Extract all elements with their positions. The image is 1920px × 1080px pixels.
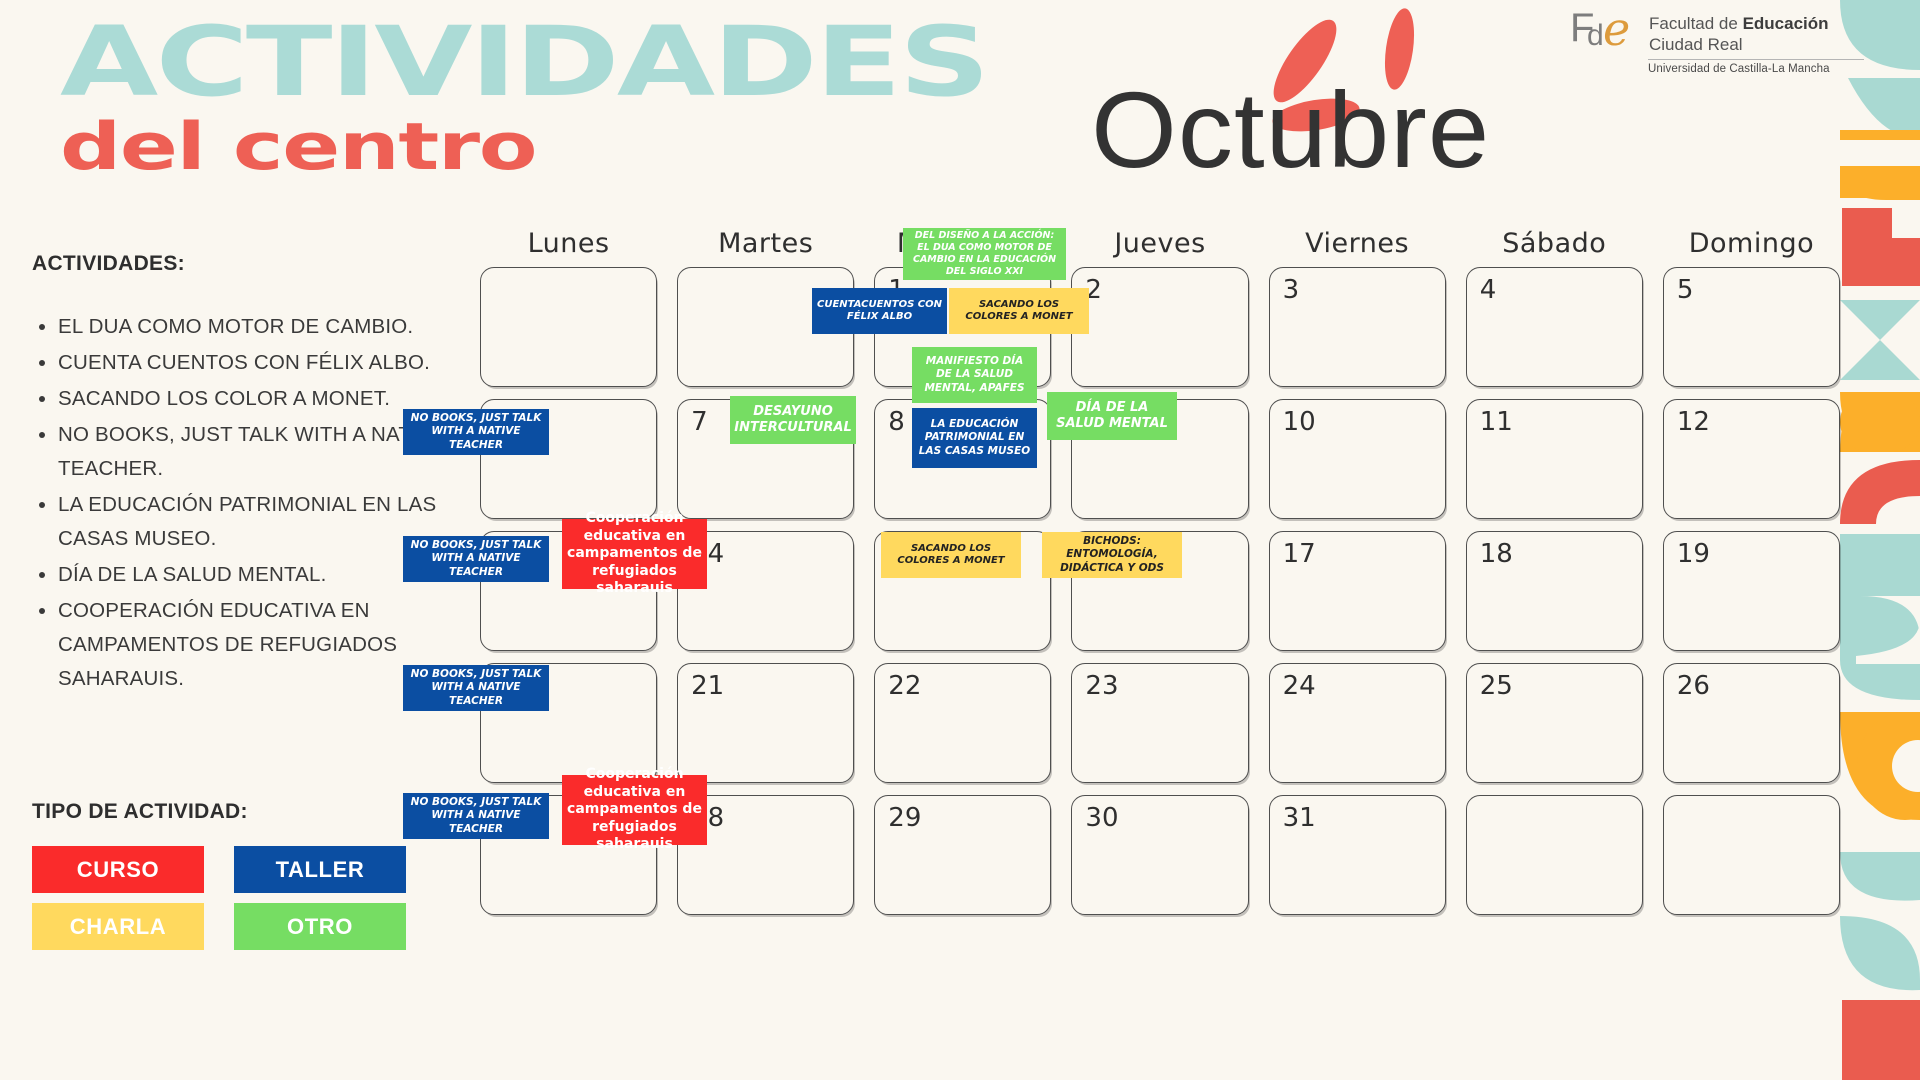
calendar-day-cell[interactable]: 12 — [1663, 399, 1840, 519]
logo-line1-plain: Facultad de — [1649, 14, 1743, 33]
calendar-day-cell[interactable]: 31 — [1269, 795, 1446, 915]
calendar-day-cell[interactable]: 5 — [1663, 267, 1840, 387]
calendar-event-label: DÍA DE LA SALUD MENTAL — [1052, 400, 1172, 433]
day-number: 4 — [1480, 275, 1497, 305]
day-number: 26 — [1677, 671, 1710, 701]
page-title-activities: ACTIVIDADES — [60, 16, 988, 109]
calendar-event[interactable]: MANIFIESTO DÍA DE LA SALUD MENTAL, APAFE… — [912, 347, 1037, 403]
calendar-event-label: NO BOOKS, JUST TALK WITH A NATIVE TEACHE… — [408, 668, 544, 707]
calendar-day-cell[interactable]: 30 — [1071, 795, 1248, 915]
day-number: 17 — [1283, 539, 1316, 569]
calendar-event-label: DEL DISEÑO A LA ACCIÓN: EL DUA COMO MOTO… — [908, 230, 1061, 278]
day-number: 31 — [1283, 803, 1316, 833]
day-number: 7 — [691, 407, 708, 437]
calendar-event-label: SACANDO LOS COLORES A MONET — [886, 543, 1016, 568]
calendar-day-cell[interactable]: 11 — [1466, 399, 1643, 519]
day-number: 8 — [888, 407, 905, 437]
calendar-event[interactable]: SACANDO LOS COLORES A MONET — [881, 532, 1021, 578]
legend-chip-label: CURSO — [77, 857, 159, 883]
calendar-day-cell[interactable]: 22 — [874, 663, 1051, 783]
logo-university-line: Universidad de Castilla-La Mancha — [1648, 63, 1870, 75]
calendar-day-cell[interactable]: 10 — [1269, 399, 1446, 519]
day-number: 29 — [888, 803, 921, 833]
day-number: 12 — [1677, 407, 1710, 437]
legend-chip-label: OTRO — [287, 914, 353, 940]
university-logo: F d e Facultad de Educación Ciudad Real … — [1570, 14, 1870, 75]
calendar-event-label: Cooperación educativa en campamentos de … — [567, 766, 702, 854]
logo-letter-e: e — [1603, 8, 1629, 50]
logo-divider — [1648, 59, 1864, 60]
calendar-event[interactable]: NO BOOKS, JUST TALK WITH A NATIVE TEACHE… — [403, 536, 549, 582]
calendar-day-cell[interactable]: 19 — [1663, 531, 1840, 651]
day-header-viernes: Viernes — [1259, 228, 1456, 259]
calendar-day-cell[interactable]: 17 — [1269, 531, 1446, 651]
calendar-event[interactable]: Cooperación educativa en campamentos de … — [562, 519, 707, 589]
day-header-sábado: Sábado — [1456, 228, 1653, 259]
calendar-week-row: 20212223242526 — [470, 663, 1850, 783]
logo-line2: Ciudad Real — [1649, 35, 1829, 56]
day-number: 11 — [1480, 407, 1513, 437]
logo-line1-bold: Educación — [1743, 14, 1829, 33]
day-number: 23 — [1085, 671, 1118, 701]
calendar-day-cell[interactable]: 21 — [677, 663, 854, 783]
calendar-event[interactable]: NO BOOKS, JUST TALK WITH A NATIVE TEACHE… — [403, 409, 549, 455]
activity-type-heading: TIPO DE ACTIVIDAD: — [32, 800, 406, 824]
calendar-day-cell[interactable]: 29 — [874, 795, 1051, 915]
calendar-day-cell[interactable] — [1466, 795, 1643, 915]
calendar-event-label: BICHODS: ENTOMOLOGÍA, DIDÁCTICA Y ODS — [1047, 535, 1177, 574]
legend-chip-label: CHARLA — [70, 914, 166, 940]
activities-sidebar: ACTIVIDADES: EL DUA COMO MOTOR DE CAMBIO… — [32, 252, 472, 698]
activity-type-legend: CURSOTALLERCHARLAOTRO — [32, 846, 406, 950]
day-number: 10 — [1283, 407, 1316, 437]
day-number: 19 — [1677, 539, 1710, 569]
day-number: 5 — [1677, 275, 1694, 305]
calendar-day-cell[interactable]: 18 — [1466, 531, 1643, 651]
logo-letter-d: d — [1587, 22, 1603, 50]
day-header-jueves: Jueves — [1061, 228, 1258, 259]
month-title: Octubre — [1091, 76, 1490, 184]
calendar-event-label: LA EDUCACIÓN PATRIMONIAL EN LAS CASAS MU… — [917, 418, 1032, 457]
calendar-event[interactable]: LA EDUCACIÓN PATRIMONIAL EN LAS CASAS MU… — [912, 408, 1037, 468]
activity-type-legend-section: TIPO DE ACTIVIDAD: CURSOTALLERCHARLAOTRO — [32, 800, 406, 950]
day-number: 18 — [1480, 539, 1513, 569]
page-title-del-centro: del centro — [60, 108, 536, 185]
calendar-day-cell[interactable] — [1663, 795, 1840, 915]
legend-chip-charla[interactable]: CHARLA — [32, 903, 204, 950]
legend-chip-curso[interactable]: CURSO — [32, 846, 204, 893]
calendar-event[interactable]: DEL DISEÑO A LA ACCIÓN: EL DUA COMO MOTO… — [903, 228, 1066, 280]
day-number: 25 — [1480, 671, 1513, 701]
calendar-event[interactable]: SACANDO LOS COLORES A MONET — [949, 288, 1089, 334]
calendar-day-cell[interactable]: 25 — [1466, 663, 1643, 783]
calendar-event[interactable]: DÍA DE LA SALUD MENTAL — [1047, 392, 1177, 440]
calendar-event[interactable]: DESAYUNO INTERCULTURAL — [730, 396, 856, 444]
activity-list-item: CUENTA CUENTOS CON FÉLIX ALBO. — [58, 346, 472, 380]
calendar-event-label: NO BOOKS, JUST TALK WITH A NATIVE TEACHE… — [408, 412, 544, 451]
calendar-event-label: NO BOOKS, JUST TALK WITH A NATIVE TEACHE… — [408, 539, 544, 578]
calendar-day-cell[interactable]: 26 — [1663, 663, 1840, 783]
day-number: 30 — [1085, 803, 1118, 833]
calendar-event[interactable]: NO BOOKS, JUST TALK WITH A NATIVE TEACHE… — [403, 665, 549, 711]
calendar-event-label: Cooperación educativa en campamentos de … — [567, 510, 702, 598]
activities-heading: ACTIVIDADES: — [32, 252, 472, 276]
activity-list-item: EL DUA COMO MOTOR DE CAMBIO. — [58, 310, 472, 344]
day-header-lunes: Lunes — [470, 228, 667, 259]
activities-list: EL DUA COMO MOTOR DE CAMBIO.CUENTA CUENT… — [32, 310, 472, 696]
calendar-event[interactable]: NO BOOKS, JUST TALK WITH A NATIVE TEACHE… — [403, 793, 549, 839]
calendar-day-cell[interactable]: 3 — [1269, 267, 1446, 387]
calendar-week-row: 12345 — [470, 267, 1850, 387]
calendar-event[interactable]: Cooperación educativa en campamentos de … — [562, 775, 707, 845]
calendar-event[interactable]: CUENTACUENTOS CON FÉLIX ALBO — [812, 288, 947, 334]
logo-faculty-name: Facultad de Educación Ciudad Real — [1649, 14, 1829, 55]
day-number: 24 — [1283, 671, 1316, 701]
calendar-day-cell[interactable]: 2 — [1071, 267, 1248, 387]
calendar-event-label: SACANDO LOS COLORES A MONET — [954, 299, 1084, 324]
calendar-event-label: DESAYUNO INTERCULTURAL — [734, 404, 851, 437]
calendar-day-headers: LunesMartesMiércolesJuevesViernesSábadoD… — [470, 228, 1850, 259]
calendar-event-label: NO BOOKS, JUST TALK WITH A NATIVE TEACHE… — [408, 796, 544, 835]
calendar-event-label: MANIFIESTO DÍA DE LA SALUD MENTAL, APAFE… — [917, 355, 1032, 394]
legend-chip-taller[interactable]: TALLER — [234, 846, 406, 893]
calendar-day-cell[interactable] — [480, 267, 657, 387]
day-header-domingo: Domingo — [1653, 228, 1850, 259]
calendar-day-cell[interactable]: 24 — [1269, 663, 1446, 783]
calendar-day-cell[interactable]: 4 — [1466, 267, 1643, 387]
legend-chip-otro[interactable]: OTRO — [234, 903, 406, 950]
day-number: 22 — [888, 671, 921, 701]
day-number: 21 — [691, 671, 724, 701]
calendar-event[interactable]: BICHODS: ENTOMOLOGÍA, DIDÁCTICA Y ODS — [1042, 532, 1182, 578]
legend-chip-label: TALLER — [276, 857, 365, 883]
calendar-day-cell[interactable]: 23 — [1071, 663, 1248, 783]
day-header-martes: Martes — [667, 228, 864, 259]
day-number: 3 — [1283, 275, 1300, 305]
calendar-event-label: CUENTACUENTOS CON FÉLIX ALBO — [817, 299, 942, 324]
